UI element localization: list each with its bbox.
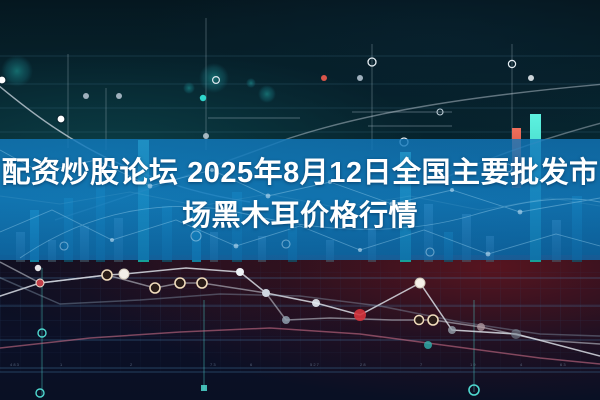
banner-image: 4 8 31 27 3 65 2 7 2 87 1 94 6 3 — [0, 0, 600, 400]
title-line-2: 场黑木耳价格行情 — [0, 195, 600, 238]
title-line-1: 配资炒股论坛 2025年8月12日全国主要批发市 — [2, 157, 599, 189]
page-title: 配资炒股论坛 2025年8月12日全国主要批发市 场黑木耳价格行情 — [0, 152, 600, 238]
